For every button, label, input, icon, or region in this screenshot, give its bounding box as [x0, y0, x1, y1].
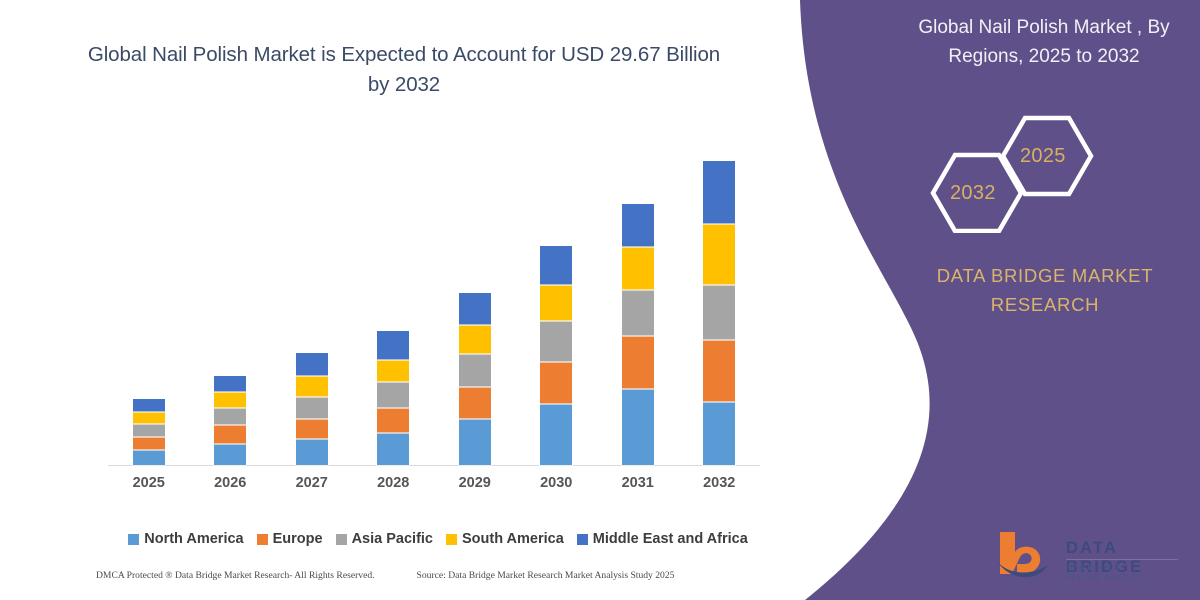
- segment-middle-east-and-africa[interactable]: [296, 353, 328, 376]
- segment-north-america[interactable]: [133, 450, 165, 465]
- hexagon-outline-icons: [908, 108, 1188, 233]
- segment-north-america[interactable]: [296, 439, 328, 465]
- segment-south-america[interactable]: [296, 376, 328, 396]
- x-axis-labels: 20252026202720282029203020312032: [108, 475, 760, 499]
- hexagon-label-2025: 2025: [1020, 145, 1066, 168]
- bar-2028[interactable]: [377, 331, 409, 465]
- segment-middle-east-and-africa[interactable]: [459, 293, 491, 325]
- chart-legend: North AmericaEuropeAsia PacificSouth Ame…: [108, 531, 768, 547]
- segment-europe[interactable]: [540, 362, 572, 404]
- segment-europe[interactable]: [377, 408, 409, 432]
- x-tick-2031: 2031: [608, 475, 668, 491]
- segment-south-america[interactable]: [133, 412, 165, 424]
- legend-label: South America: [462, 531, 564, 547]
- legend-swatch-icon: [257, 534, 268, 545]
- brand-name: DATA BRIDGE MARKET RESEARCH: [902, 262, 1188, 319]
- segment-north-america[interactable]: [703, 402, 735, 465]
- x-axis-line: [108, 465, 760, 466]
- segment-middle-east-and-africa[interactable]: [214, 376, 246, 392]
- logo-sub-text: MARKET RESEARCH: [1068, 562, 1182, 582]
- company-logo: DATA BRIDGE MARKET RESEARCH: [992, 526, 1182, 588]
- bar-2026[interactable]: [214, 376, 246, 465]
- infographic-root: Global Nail Polish Market is Expected to…: [0, 0, 1200, 600]
- logo-mark-icon: [992, 526, 1058, 584]
- segment-north-america[interactable]: [214, 444, 246, 465]
- segment-middle-east-and-africa[interactable]: [622, 204, 654, 247]
- copyright-text: DMCA Protected ® Data Bridge Market Rese…: [96, 570, 375, 581]
- segment-asia-pacific[interactable]: [133, 424, 165, 437]
- bar-2032[interactable]: [703, 161, 735, 465]
- legend-label: Europe: [273, 531, 323, 547]
- segment-middle-east-and-africa[interactable]: [540, 246, 572, 285]
- segment-asia-pacific[interactable]: [703, 285, 735, 341]
- chart-pane: Global Nail Polish Market is Expected to…: [0, 0, 800, 600]
- segment-north-america[interactable]: [622, 389, 654, 465]
- segment-europe[interactable]: [214, 425, 246, 444]
- x-tick-2029: 2029: [445, 475, 505, 491]
- legend-item-middle-east-and-africa[interactable]: Middle East and Africa: [577, 531, 748, 547]
- segment-asia-pacific[interactable]: [540, 321, 572, 362]
- bar-2030[interactable]: [540, 246, 572, 465]
- bar-2025[interactable]: [133, 399, 165, 465]
- bar-2031[interactable]: [622, 204, 654, 465]
- footer: DMCA Protected ® Data Bridge Market Rese…: [96, 570, 776, 581]
- legend-swatch-icon: [128, 534, 139, 545]
- legend-label: Asia Pacific: [352, 531, 433, 547]
- x-tick-2028: 2028: [363, 475, 423, 491]
- bar-2027[interactable]: [296, 353, 328, 465]
- x-tick-2032: 2032: [689, 475, 749, 491]
- legend-item-north-america[interactable]: North America: [128, 531, 243, 547]
- segment-north-america[interactable]: [459, 419, 491, 465]
- hexagon-label-2032: 2032: [950, 182, 996, 205]
- segment-asia-pacific[interactable]: [459, 354, 491, 387]
- legend-item-south-america[interactable]: South America: [446, 531, 564, 547]
- legend-item-europe[interactable]: Europe: [257, 531, 323, 547]
- segment-north-america[interactable]: [540, 404, 572, 465]
- segment-europe[interactable]: [622, 336, 654, 389]
- segment-south-america[interactable]: [703, 224, 735, 284]
- segment-south-america[interactable]: [540, 285, 572, 321]
- segment-asia-pacific[interactable]: [622, 290, 654, 336]
- segment-asia-pacific[interactable]: [377, 382, 409, 408]
- segment-south-america[interactable]: [459, 325, 491, 354]
- segment-middle-east-and-africa[interactable]: [133, 399, 165, 413]
- side-panel: Global Nail Polish Market , By Regions, …: [890, 0, 1200, 600]
- segment-europe[interactable]: [296, 419, 328, 438]
- segment-asia-pacific[interactable]: [296, 397, 328, 419]
- stacked-bar-chart: [108, 120, 760, 466]
- hexagon-badges: 2032 2025: [908, 108, 1188, 233]
- legend-label: North America: [144, 531, 243, 547]
- segment-europe[interactable]: [703, 340, 735, 401]
- segment-asia-pacific[interactable]: [214, 408, 246, 426]
- segment-europe[interactable]: [459, 387, 491, 419]
- legend-swatch-icon: [446, 534, 457, 545]
- segment-south-america[interactable]: [622, 247, 654, 291]
- legend-swatch-icon: [577, 534, 588, 545]
- chart-title: Global Nail Polish Market is Expected to…: [84, 40, 724, 99]
- segment-middle-east-and-africa[interactable]: [703, 161, 735, 224]
- x-tick-2025: 2025: [119, 475, 179, 491]
- segment-north-america[interactable]: [377, 433, 409, 465]
- side-panel-title: Global Nail Polish Market , By Regions, …: [895, 14, 1193, 71]
- segment-south-america[interactable]: [214, 392, 246, 408]
- segment-europe[interactable]: [133, 437, 165, 451]
- bar-2029[interactable]: [459, 293, 491, 465]
- source-text: Source: Data Bridge Market Research Mark…: [417, 570, 675, 581]
- x-tick-2030: 2030: [526, 475, 586, 491]
- segment-middle-east-and-africa[interactable]: [377, 331, 409, 360]
- legend-label: Middle East and Africa: [593, 531, 748, 547]
- legend-item-asia-pacific[interactable]: Asia Pacific: [336, 531, 433, 547]
- segment-south-america[interactable]: [377, 360, 409, 382]
- x-tick-2026: 2026: [200, 475, 260, 491]
- legend-swatch-icon: [336, 534, 347, 545]
- x-tick-2027: 2027: [282, 475, 342, 491]
